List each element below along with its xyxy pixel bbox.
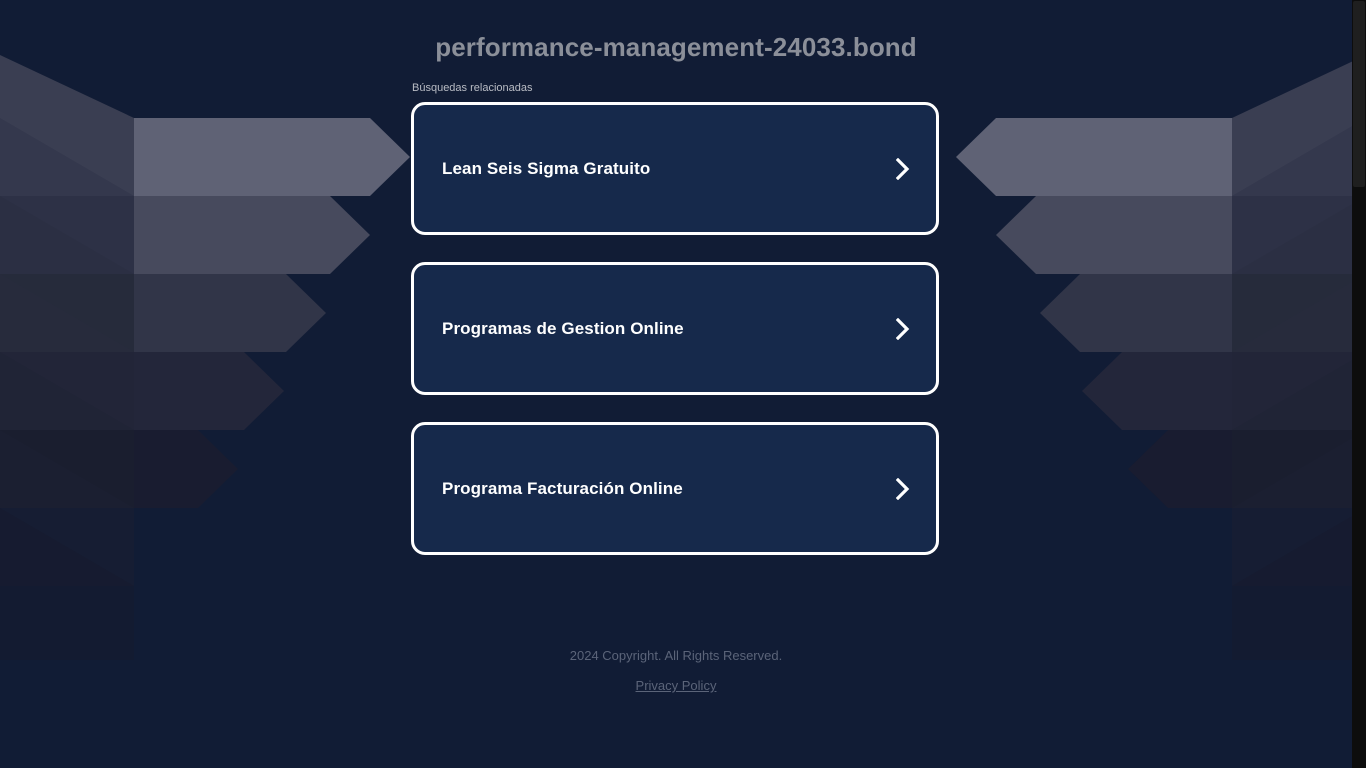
privacy-policy-link[interactable]: Privacy Policy: [636, 676, 717, 696]
related-search-label: Programas de Gestion Online: [442, 318, 684, 340]
related-searches-label: Búsquedas relacionadas: [411, 81, 941, 95]
related-search-label: Lean Seis Sigma Gratuito: [442, 158, 650, 180]
vertical-scrollbar-track[interactable]: [1352, 0, 1366, 768]
domain-parking-page: performance-management-24033.bond Búsque…: [0, 0, 1366, 768]
page-title: performance-management-24033.bond: [435, 31, 917, 63]
related-search-label: Programa Facturación Online: [442, 478, 683, 500]
copyright-text: 2024 Copyright. All Rights Reserved.: [0, 646, 1352, 666]
related-search-card-1[interactable]: Lean Seis Sigma Gratuito: [411, 102, 939, 235]
chevron-right-icon: [896, 318, 910, 340]
page-footer: 2024 Copyright. All Rights Reserved. Pri…: [0, 646, 1352, 696]
vertical-scrollbar-thumb[interactable]: [1353, 1, 1365, 187]
related-search-card-2[interactable]: Programas de Gestion Online: [411, 262, 939, 395]
chevron-right-icon: [896, 158, 910, 180]
related-searches-region: Búsquedas relacionadas Lean Seis Sigma G…: [411, 81, 941, 555]
related-search-card-3[interactable]: Programa Facturación Online: [411, 422, 939, 555]
chevron-right-icon: [896, 478, 910, 500]
